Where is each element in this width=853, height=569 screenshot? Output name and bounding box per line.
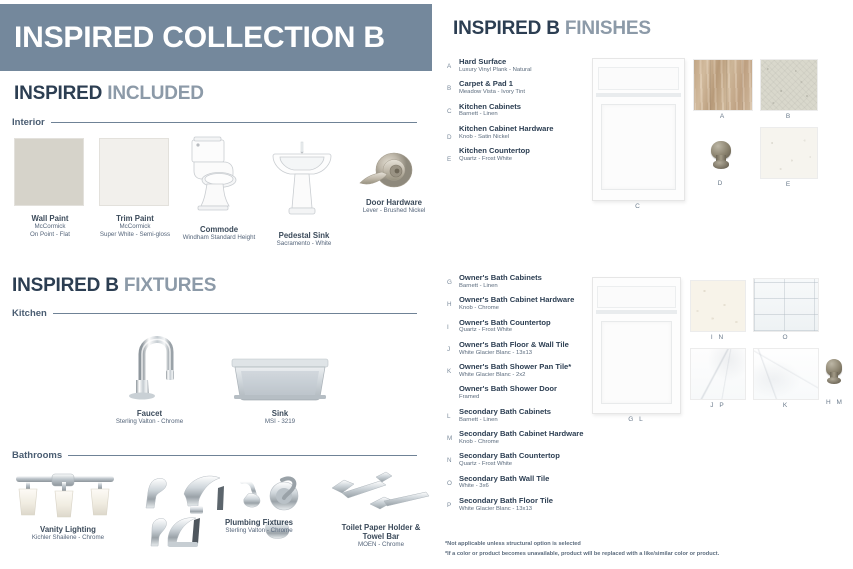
legend-sub: Meadow Vista - Ivory Tint	[459, 89, 607, 96]
fixtures-heading: INSPIRED B FIXTURES	[12, 275, 216, 297]
item-commode: Commode Windham Standard Height	[173, 225, 265, 242]
legend-letter: K	[447, 368, 451, 375]
item-name: Plumbing Fixtures	[206, 518, 312, 527]
knob-base	[827, 377, 841, 384]
swatch-letter-in: I N	[690, 334, 746, 341]
legend-title: Owner's Bath Countertop	[459, 319, 607, 328]
legend-item-i: I Owner's Bath Countertop Quartz - Frost…	[447, 319, 607, 335]
legend-title: Secondary Bath Floor Tile	[459, 497, 607, 506]
footnote-2: *If a color or product becomes unavailab…	[445, 550, 845, 560]
item-name: Door Hardware	[348, 198, 440, 207]
legend-item-o: O Secondary Bath Wall Tile White - 3x6	[447, 475, 607, 491]
item-sub1: Kichler Shailene - Chrome	[18, 534, 118, 542]
legend-letter: P	[447, 502, 451, 509]
item-sub1: Sterling Valton - Chrome	[102, 418, 197, 426]
legend-item-m: M Secondary Bath Cabinet Hardware Knob -…	[447, 430, 607, 446]
group-kitchen-rule	[53, 313, 417, 314]
plumbing-fixtures-icon	[132, 468, 314, 556]
group-interior: Interior	[12, 117, 417, 128]
group-bathrooms-label: Bathrooms	[12, 450, 62, 461]
legend-item-k: K Owner's Bath Shower Pan Tile* White Gl…	[447, 363, 607, 379]
item-name: Commode	[173, 225, 265, 234]
item-pedestal-sink: Pedestal Sink Sacramento - White	[258, 231, 350, 248]
legend-letter: A	[447, 63, 451, 70]
swatch-letter-a: A	[693, 113, 753, 120]
swatch-letter-o: O	[753, 334, 819, 341]
footnotes: *Not applicable unless structural option…	[445, 540, 845, 560]
legend-sub: Quartz - Frost White	[459, 156, 607, 163]
legend-title: Owner's Bath Cabinet Hardware	[459, 296, 607, 305]
legend-item-j: J Owner's Bath Floor & Wall Tile White G…	[447, 341, 607, 357]
swatch-letter-gl: G L	[592, 416, 681, 423]
legend-sub: Quartz - Frost White	[459, 327, 607, 334]
secondary-wall-tile-swatch	[753, 278, 819, 332]
item-trim-paint: Trim Paint McCormick Super White - Semi-…	[85, 214, 185, 238]
legend-title: Secondary Bath Cabinet Hardware	[459, 430, 607, 439]
group-bathrooms-rule	[68, 455, 417, 456]
legend-letter: N	[447, 457, 452, 464]
group-kitchen-label: Kitchen	[12, 308, 47, 319]
bath-cabinet-swatch	[592, 277, 681, 414]
included-heading-light: INCLUDED	[107, 83, 204, 104]
legend-title: Carpet & Pad 1	[459, 80, 607, 89]
item-faucet: Faucet Sterling Valton - Chrome	[102, 409, 197, 426]
legend-letter: I	[447, 324, 449, 331]
bath-countertop-swatch	[690, 280, 746, 332]
legend-title: Owner's Bath Shower Door	[459, 385, 607, 394]
hard-surface-swatch	[693, 59, 753, 111]
finishes-legend-top: A Hard Surface Luxury Vinyl Plank - Natu…	[447, 58, 607, 169]
legend-item-p: P Secondary Bath Floor Tile White Glacie…	[447, 497, 607, 513]
legend-sub: Barnett - Linen	[459, 417, 607, 424]
legend-item-d: D Kitchen Cabinet Hardware Knob - Satin …	[447, 125, 607, 141]
item-sub1: Lever - Brushed Nickel	[348, 207, 440, 215]
swatch-letter-d: D	[698, 180, 744, 187]
item-sub1: MOEN - Chrome	[326, 541, 436, 549]
item-name: Trim Paint	[85, 214, 185, 223]
legend-title: Kitchen Cabinets	[459, 103, 607, 112]
item-sub2: Super White - Semi-gloss	[85, 231, 185, 239]
swatch-letter-e: E	[760, 181, 818, 188]
item-wall-paint: Wall Paint McCormick On Point - Flat	[4, 214, 96, 238]
swatch-letter-jp: J P	[690, 402, 746, 409]
collection-title: INSPIRED COLLECTION B	[0, 23, 385, 53]
swatch-letter-k: K	[753, 402, 819, 409]
cabinet-panel	[601, 104, 676, 190]
fixtures-heading-bold: INSPIRED B	[12, 275, 119, 296]
kitchen-sink-icon	[230, 355, 330, 403]
footnote-1: *Not applicable unless structural option…	[445, 540, 845, 550]
legend-letter: J	[447, 346, 450, 353]
finishes-heading-light: FINISHES	[565, 18, 651, 39]
shower-pan-tile-swatch	[753, 348, 819, 400]
legend-title: Secondary Bath Wall Tile	[459, 475, 607, 484]
item-name: Pedestal Sink	[258, 231, 350, 240]
carpet-swatch	[760, 59, 818, 111]
item-sub1: McCormick	[85, 223, 185, 231]
fixtures-heading-light: FIXTURES	[124, 275, 216, 296]
legend-letter: M	[447, 435, 452, 442]
item-sub1: McCormick	[4, 223, 96, 231]
legend-sub: Luxury Vinyl Plank - Natural	[459, 67, 607, 74]
finishes-heading: INSPIRED B FINISHES	[453, 18, 651, 40]
legend-sub: White Glacier Blanc - 13x13	[459, 506, 607, 513]
item-sub1: Windham Standard Height	[173, 234, 265, 242]
legend-item-l: L Secondary Bath Cabinets Barnett - Line…	[447, 408, 607, 424]
bath-knob-swatch	[819, 357, 849, 387]
vanity-light-icon	[8, 466, 124, 522]
item-name: Vanity Lighting	[18, 525, 118, 534]
item-plumbing-fixtures: Plumbing Fixtures Sterling Valton - Chro…	[206, 518, 312, 535]
legend-item-a: A Hard Surface Luxury Vinyl Plank - Natu…	[447, 58, 607, 74]
legend-title: Kitchen Cabinet Hardware	[459, 125, 607, 134]
legend-title: Hard Surface	[459, 58, 607, 67]
legend-title: Owner's Bath Shower Pan Tile*	[459, 363, 607, 372]
finishes-legend-bottom: G Owner's Bath Cabinets Barnett - Linen …	[447, 274, 607, 519]
legend-item-h: H Owner's Bath Cabinet Hardware Knob - C…	[447, 296, 607, 312]
cabinet-drawer	[597, 286, 675, 308]
right-column: INSPIRED B FINISHES A Hard Surface Luxur…	[440, 0, 853, 569]
wall-paint-swatch	[14, 138, 84, 206]
legend-item-e: E Kitchen Countertop Quartz - Frost Whit…	[447, 147, 607, 163]
item-sub1: Sterling Valton - Chrome	[206, 527, 312, 535]
item-toilet-paper-holder: Toilet Paper Holder & Towel Bar MOEN - C…	[326, 523, 436, 549]
legend-sub: Barnett - Linen	[459, 111, 607, 118]
legend-title: Owner's Bath Floor & Wall Tile	[459, 341, 607, 350]
pedestal-sink-icon	[271, 134, 333, 220]
cabinet-panel	[601, 321, 672, 403]
swatch-letter-hm: H M	[815, 399, 853, 406]
legend-letter: C	[447, 108, 452, 115]
legend-title: Secondary Bath Countertop	[459, 452, 607, 461]
door-lever-icon	[352, 146, 422, 202]
kitchen-knob-swatch	[703, 138, 739, 172]
included-heading: INSPIRED INCLUDED	[14, 83, 204, 105]
legend-letter: G	[447, 279, 452, 286]
legend-sub: White Glacier Blanc - 2x2	[459, 372, 607, 379]
legend-item-n: N Secondary Bath Countertop Quartz - Fro…	[447, 452, 607, 468]
item-sub1: MSI - 3219	[238, 418, 322, 426]
item-sub1: Sacramento - White	[258, 240, 350, 248]
legend-sub: Quartz - Frost White	[459, 461, 607, 468]
item-sub2: On Point - Flat	[4, 231, 96, 239]
group-interior-label: Interior	[12, 117, 45, 128]
legend-title: Kitchen Countertop	[459, 147, 607, 156]
legend-sub: Barnett - Linen	[459, 283, 607, 290]
included-heading-bold: INSPIRED	[14, 83, 102, 104]
legend-item-g: G Owner's Bath Cabinets Barnett - Linen	[447, 274, 607, 290]
legend-sub: White Glacier Blanc - 13x13	[459, 350, 607, 357]
legend-item-c: C Kitchen Cabinets Barnett - Linen	[447, 103, 607, 119]
legend-sub: Knob - Chrome	[459, 439, 607, 446]
kitchen-countertop-swatch	[760, 127, 818, 179]
swatch-letter-c: C	[592, 203, 685, 210]
collection-sheet: INSPIRED COLLECTION B INSPIRED INCLUDED …	[0, 0, 853, 569]
group-kitchen: Kitchen	[12, 308, 417, 319]
legend-item-shower-door: Owner's Bath Shower Door Framed	[447, 385, 607, 401]
item-door-hardware: Door Hardware Lever - Brushed Nickel	[348, 198, 440, 215]
legend-sub: Knob - Chrome	[459, 305, 607, 312]
cabinet-drawer-line	[596, 93, 682, 97]
cabinet-drawer-line	[596, 310, 678, 314]
trim-paint-swatch	[99, 138, 169, 206]
legend-letter: O	[447, 480, 452, 487]
collection-banner: INSPIRED COLLECTION B	[0, 4, 432, 71]
group-interior-rule	[51, 122, 417, 123]
owners-bath-floor-tile-swatch	[690, 348, 746, 400]
swatch-letter-b: B	[760, 113, 818, 120]
legend-letter: D	[447, 134, 452, 141]
legend-title: Secondary Bath Cabinets	[459, 408, 607, 417]
kitchen-faucet-icon	[112, 320, 184, 400]
towel-bar-icon	[326, 470, 430, 522]
left-column: INSPIRED COLLECTION B INSPIRED INCLUDED …	[0, 0, 432, 569]
toilet-icon	[186, 134, 252, 214]
legend-letter: B	[447, 85, 451, 92]
item-sink: Sink MSI - 3219	[238, 409, 322, 426]
legend-letter: H	[447, 301, 452, 308]
item-name: Faucet	[102, 409, 197, 418]
knob-base	[713, 160, 730, 168]
legend-title: Owner's Bath Cabinets	[459, 274, 607, 283]
item-vanity-lighting: Vanity Lighting Kichler Shailene - Chrom…	[18, 525, 118, 542]
legend-letter: L	[447, 413, 451, 420]
legend-sub: Framed	[459, 394, 607, 401]
legend-letter: E	[447, 156, 451, 163]
legend-sub: Knob - Satin Nickel	[459, 134, 607, 141]
legend-item-b: B Carpet & Pad 1 Meadow Vista - Ivory Ti…	[447, 80, 607, 96]
group-bathrooms: Bathrooms	[12, 450, 417, 461]
item-name: Sink	[238, 409, 322, 418]
item-name: Toilet Paper Holder & Towel Bar	[326, 523, 436, 541]
cabinet-drawer	[598, 67, 680, 90]
kitchen-cabinet-swatch	[592, 58, 685, 201]
finishes-heading-bold: INSPIRED B	[453, 18, 560, 39]
legend-sub: White - 3x6	[459, 483, 607, 490]
item-name: Wall Paint	[4, 214, 96, 223]
